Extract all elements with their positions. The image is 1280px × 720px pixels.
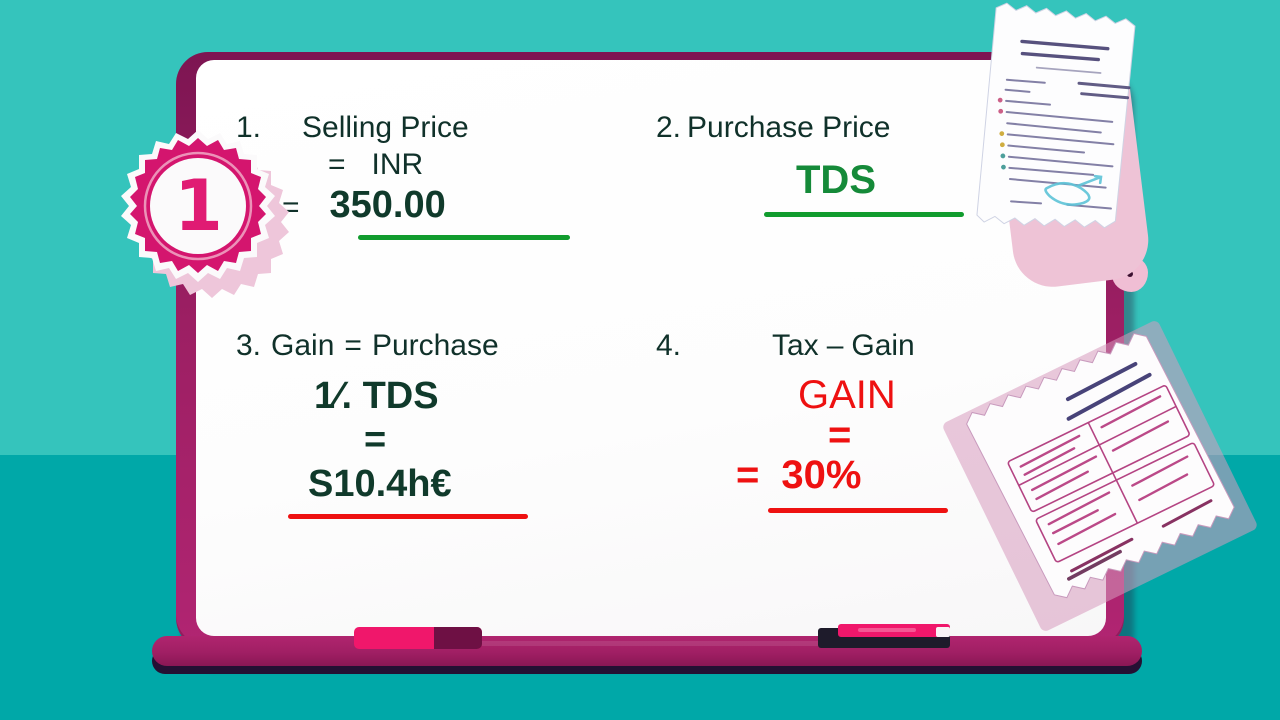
scene: 1. Selling Price = INR = 350.00 2. Purch… — [0, 0, 1280, 720]
item-4-heading-left: Tax — [772, 330, 819, 362]
item-4-heading-row: 4. Tax – Gain — [656, 330, 1076, 362]
item-4-number: 4. — [656, 330, 766, 362]
item-3-equals: = — [364, 420, 656, 462]
eraser[interactable] — [354, 627, 482, 649]
marker-stripe — [858, 628, 916, 632]
item-3-heading-left: Gain — [271, 330, 334, 362]
receipt-top-right[interactable] — [964, 0, 1170, 245]
item-1-row-3: = 350.00 — [282, 185, 656, 227]
item-3-number: 3. — [236, 330, 261, 362]
item-1-row-2: = INR — [328, 148, 656, 183]
item-4-heading-right: Gain — [851, 330, 914, 362]
item-3-heading-right: Purchase — [372, 330, 499, 362]
badge-number: 1 — [118, 128, 278, 288]
item-1-equals-1: = — [328, 148, 346, 183]
item-1-heading-row: 1. Selling Price — [236, 112, 656, 144]
item-3-underline — [288, 514, 528, 519]
formula-item-3: 3. Gain = Purchase 1⁄. TDS = S10.4h€ — [236, 330, 656, 519]
whiteboard-content: 1. Selling Price = INR = 350.00 2. Purch… — [196, 60, 1106, 636]
item-2-number: 2. — [656, 112, 681, 144]
item-1-underline — [358, 235, 570, 240]
item-1-heading: Selling Price — [302, 112, 469, 144]
item-4-equals: = — [736, 454, 759, 496]
item-4-heading-dash: – — [827, 330, 844, 362]
item-3-heading-row: 3. Gain = Purchase — [236, 330, 656, 362]
item-3-line-2: 1⁄. TDS — [314, 376, 656, 418]
item-1-currency-label: INR — [372, 148, 424, 183]
item-2-heading: Purchase Price — [687, 112, 890, 144]
item-3-heading-equals: = — [344, 330, 362, 362]
badge: 1 — [118, 128, 286, 300]
marker-cap — [936, 627, 950, 637]
item-4-underline — [768, 508, 948, 513]
formula-item-1: 1. Selling Price = INR = 350.00 — [236, 112, 656, 240]
item-2-underline — [764, 212, 964, 217]
item-4-value: 30% — [781, 454, 861, 496]
item-3-value: S10.4h€ — [308, 464, 656, 506]
item-1-value: 350.00 — [330, 185, 446, 227]
